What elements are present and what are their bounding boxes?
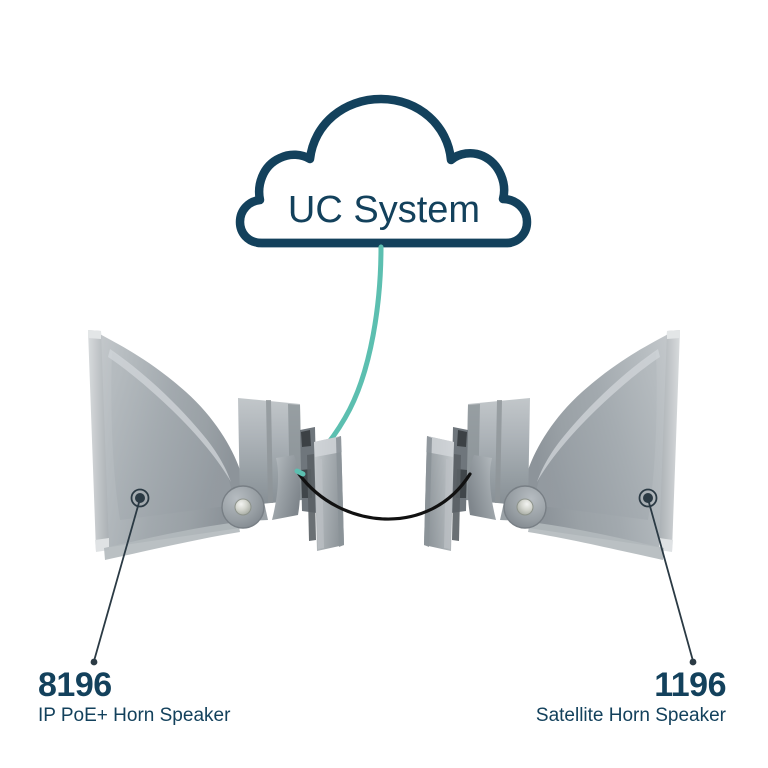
satellite-horn-speaker bbox=[424, 330, 680, 560]
device-model-left: 8196 bbox=[38, 666, 230, 704]
ip-poe-horn-speaker bbox=[88, 330, 344, 560]
cloud-label: UC System bbox=[288, 189, 480, 231]
leader-dot-right bbox=[643, 493, 653, 503]
device-label-left: 8196 IP PoE+ Horn Speaker bbox=[38, 666, 230, 728]
leader-endpoint-left bbox=[91, 659, 98, 666]
device-description-left: IP PoE+ Horn Speaker bbox=[38, 704, 230, 728]
system-diagram: UC System bbox=[0, 0, 768, 768]
device-description-right: Satellite Horn Speaker bbox=[536, 704, 726, 728]
device-label-right: 1196 Satellite Horn Speaker bbox=[536, 666, 726, 728]
diagram-canvas: UC System 8196 bbox=[0, 0, 768, 768]
teal-cable-terminator bbox=[297, 471, 303, 474]
leader-endpoint-right bbox=[690, 659, 697, 666]
device-model-right: 1196 bbox=[536, 666, 726, 704]
uc-system-cloud: UC System bbox=[240, 99, 527, 243]
leader-dot-left bbox=[135, 493, 145, 503]
